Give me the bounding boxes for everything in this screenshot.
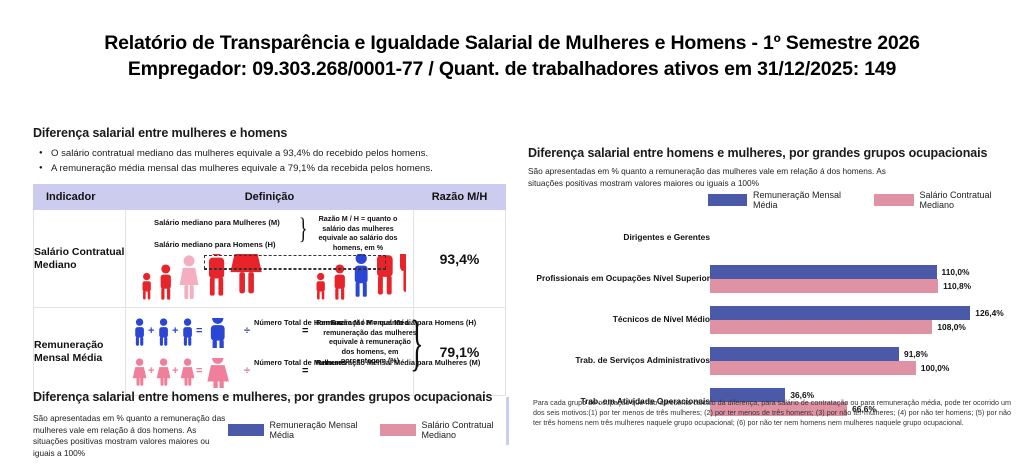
right-subtitle: São apresentadas em % quanto a remuneraç… <box>528 166 888 189</box>
title-line-1: Relatório de Transparência e Igualdade S… <box>0 30 1024 56</box>
right-panel: Diferença salarial entre homens e mulher… <box>528 146 1012 426</box>
legend-swatch-salario <box>380 424 415 436</box>
list-item: O salário contratual mediano das mulhere… <box>33 146 505 161</box>
bottom-left-subtitle: São apresentadas em % quanto a remuneraç… <box>33 413 228 459</box>
note-ratio-definition-2: Razão M / H = quanto a remuneração das m… <box>322 318 418 366</box>
right-section-title: Diferença salarial entre homens e mulher… <box>528 146 1012 160</box>
column-header-definition: Definição <box>126 185 414 210</box>
median-bracket-top <box>204 255 386 269</box>
table-row: Remuneração Mensal Média ++= <box>34 308 506 396</box>
indicators-table: Indicador Definição Razão M/H Salário Co… <box>33 184 506 396</box>
chart-bar[interactable] <box>710 361 916 375</box>
chart-bar-value: 126,4% <box>975 306 1003 320</box>
legend-swatch-remuneracao <box>708 194 747 206</box>
label-median-salary-men: Salário mediano para Homens (H) <box>154 240 276 250</box>
divide-icon-men: ÷ <box>244 326 250 337</box>
left-panel: Diferença salarial entre mulheres e home… <box>33 126 505 396</box>
chart-bar-value: 108,0% <box>937 320 965 334</box>
occupational-groups-bar-chart: Dirigentes e GerentesProfissionais em Oc… <box>528 220 1012 426</box>
women-figures-icon: ++= <box>132 358 250 388</box>
page-title: Relatório de Transparência e Igualdade S… <box>0 30 1024 82</box>
list-item: A remuneração média mensal das mulheres … <box>33 161 505 176</box>
row-indicator-remuneracao-media: Remuneração Mensal Média <box>34 308 126 396</box>
chart-footnote: Para cada grupo de ocupação que não apre… <box>533 398 1011 428</box>
svg-text:+: + <box>148 365 154 377</box>
chart-category-label: Profissionais em Ocupações Nível Superio… <box>490 273 710 284</box>
chart-bar[interactable] <box>710 306 970 320</box>
chart-category-label: Técnicos de Nível Médio <box>490 314 710 325</box>
row-indicator-salario-mediano: Salário Contratual Mediano <box>34 210 126 308</box>
svg-text:+: + <box>172 325 178 337</box>
chart-bar[interactable] <box>710 279 938 293</box>
median-bracket-bottom <box>204 269 386 270</box>
brace-icon: } <box>299 214 308 244</box>
legend-label-salario: Salário Contratual Mediano <box>422 420 505 440</box>
svg-text:=: = <box>196 365 202 377</box>
equals-icon-women: = <box>302 366 308 377</box>
table-header-row: Indicador Definição Razão M/H <box>34 185 506 210</box>
bottom-left-section-title: Diferença salarial entre homens e mulher… <box>33 390 505 404</box>
row-ratio-salario-mediano: 93,4% <box>414 210 506 308</box>
chart-bar-value: 110,0% <box>942 265 970 279</box>
svg-text:=: = <box>196 325 202 337</box>
table-row: Salário Contratual Mediano Salário media… <box>34 210 506 308</box>
svg-text:+: + <box>148 325 154 337</box>
chart-category-label: Dirigentes e Gerentes <box>490 232 710 243</box>
equals-icon-men: = <box>302 326 308 337</box>
chart-bar-value: 100,0% <box>921 361 949 375</box>
left-section-title: Diferença salarial entre mulheres e home… <box>33 126 505 140</box>
bottom-left-legend: Remuneração Mensal Média Salário Contrat… <box>228 420 505 440</box>
row-definition-salario-mediano: Salário mediano para Mulheres (M) Salári… <box>126 210 414 308</box>
bottom-left-section: Diferença salarial entre homens e mulher… <box>33 390 505 459</box>
legend-swatch-remuneracao <box>228 424 263 436</box>
chart-legend: Remuneração Mensal Média Salário Contrat… <box>708 190 1012 210</box>
title-line-2: Empregador: 09.303.268/0001-77 / Quant. … <box>0 56 1024 82</box>
chart-bar[interactable] <box>710 347 899 361</box>
chart-bar[interactable] <box>710 320 932 334</box>
svg-text:+: + <box>172 365 178 377</box>
column-header-ratio: Razão M/H <box>414 185 506 210</box>
legend-swatch-salario <box>874 194 913 206</box>
men-figures-icon: ++= <box>132 318 250 348</box>
column-header-indicator: Indicador <box>34 185 126 210</box>
chart-category-label: Trab. de Serviços Administrativos <box>490 355 710 366</box>
divide-icon-women: ÷ <box>244 366 250 377</box>
note-ratio-definition: Razão M / H = quanto o salário das mulhe… <box>310 214 406 252</box>
legend-label-remuneracao: Remuneração Mensal Média <box>753 190 851 210</box>
chart-bar[interactable] <box>710 265 937 279</box>
report-page: Relatório de Transparência e Igualdade S… <box>0 0 1024 465</box>
chart-bar-value: 110,8% <box>943 279 971 293</box>
legend-label-salario: Salário Contratual Mediano <box>920 190 1013 210</box>
label-median-salary-women: Salário mediano para Mulheres (M) <box>154 218 280 228</box>
legend-label-remuneracao: Remuneração Mensal Média <box>270 420 358 440</box>
chart-bar-value: 91,8% <box>904 347 928 361</box>
summary-bullet-list: O salário contratual mediano das mulhere… <box>33 146 505 176</box>
